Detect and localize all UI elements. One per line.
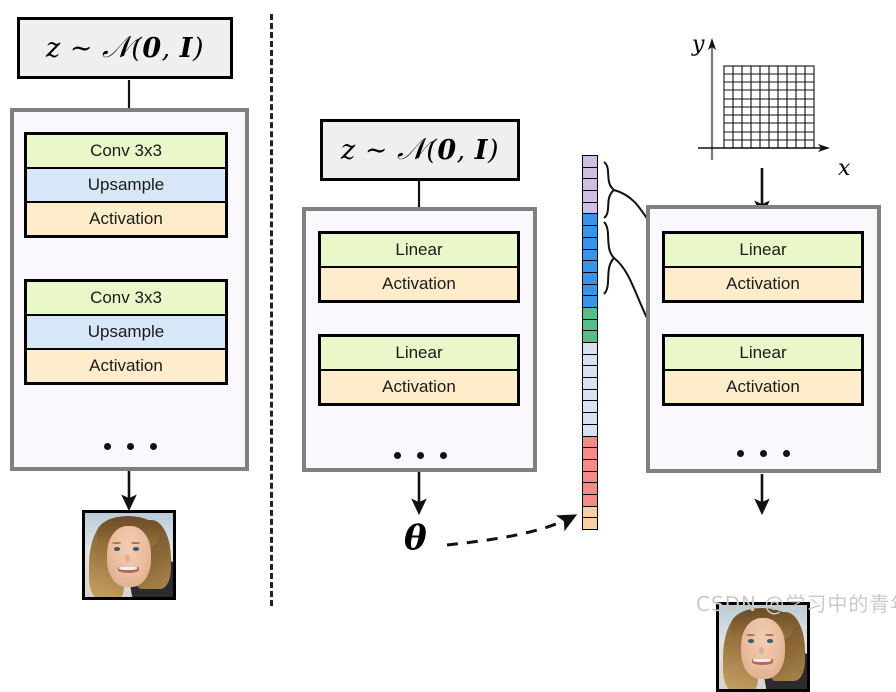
parameter-vector-cell	[583, 413, 597, 425]
grid-y-axis-label: y	[692, 32, 704, 57]
parameter-vector-cell	[583, 331, 597, 343]
middle-block-2-row-activation: Activation	[321, 371, 517, 403]
middle-block-1-row-linear: Linear	[321, 234, 517, 268]
parameter-vector-cell	[583, 425, 597, 437]
left-block-1-row-upsample: Upsample	[27, 169, 225, 203]
parameter-vector-cell	[583, 308, 597, 320]
parameter-vector-cell	[583, 507, 597, 519]
left-block-2-row-conv: Conv 3x3	[27, 282, 225, 316]
right-block-1-row-linear: Linear	[665, 234, 861, 268]
parameter-vector-cell	[583, 191, 597, 203]
panel-divider	[270, 14, 273, 606]
middle-block-2-row-linear: Linear	[321, 337, 517, 371]
parameter-vector-cell	[583, 214, 597, 226]
right-ellipsis	[737, 450, 790, 457]
parameter-vector-cell	[583, 273, 597, 285]
parameter-vector-cell	[583, 156, 597, 168]
parameter-vector-cell	[583, 495, 597, 507]
parameter-vector-cell	[583, 378, 597, 390]
middle-latent-box: z ∼ 𝒩(0, I)	[320, 119, 520, 181]
left-latent-formula: z ∼ 𝒩(0, I)	[46, 33, 204, 63]
parameter-vector-cell	[583, 366, 597, 378]
left-block-2-row-upsample: Upsample	[27, 316, 225, 350]
parameter-vector-cell	[583, 261, 597, 273]
middle-block-1-row-activation: Activation	[321, 268, 517, 300]
middle-block-2: Linear Activation	[318, 334, 520, 406]
parameter-vector-cell	[583, 203, 597, 215]
parameter-vector-cell	[583, 518, 597, 529]
middle-ellipsis	[394, 452, 447, 459]
left-block-2: Conv 3x3 Upsample Activation	[24, 279, 228, 385]
parameter-vector-cell	[583, 460, 597, 472]
parameter-vector-strip	[582, 155, 598, 530]
parameter-vector-cell	[583, 238, 597, 250]
left-ellipsis	[104, 443, 157, 450]
left-block-2-row-activation: Activation	[27, 350, 225, 382]
parameter-vector-cell	[583, 483, 597, 495]
right-block-1: Linear Activation	[662, 231, 864, 303]
parameter-vector-cell	[583, 472, 597, 484]
theta-parameters-label: θ	[404, 518, 427, 558]
diagram-stage: z ∼ 𝒩(0, I) Conv 3x3 Upsample Activation…	[0, 0, 896, 621]
middle-latent-formula: z ∼ 𝒩(0, I)	[341, 135, 499, 165]
csdn-watermark: CSDN @学习中的青年	[696, 588, 896, 617]
parameter-vector-cell	[583, 390, 597, 402]
right-block-2-row-activation: Activation	[665, 371, 861, 403]
parameter-vector-cell	[583, 168, 597, 180]
parameter-vector-cell	[583, 285, 597, 297]
left-block-1-row-conv: Conv 3x3	[27, 135, 225, 169]
parameter-vector-cell	[583, 320, 597, 332]
parameter-vector-cell	[583, 226, 597, 238]
middle-block-1: Linear Activation	[318, 231, 520, 303]
left-block-1: Conv 3x3 Upsample Activation	[24, 132, 228, 238]
parameter-vector-cell	[583, 296, 597, 308]
parameter-vector-cell	[583, 437, 597, 449]
right-block-2-row-linear: Linear	[665, 337, 861, 371]
grid-x-axis-label: x	[838, 156, 850, 181]
right-block-1-row-activation: Activation	[665, 268, 861, 300]
left-output-face	[82, 510, 176, 600]
parameter-vector-cell	[583, 401, 597, 413]
left-latent-box: z ∼ 𝒩(0, I)	[17, 17, 233, 79]
left-block-1-row-activation: Activation	[27, 203, 225, 235]
parameter-vector-cell	[583, 355, 597, 367]
parameter-vector-cell	[583, 179, 597, 191]
parameter-vector-cell	[583, 448, 597, 460]
parameter-vector-cell	[583, 343, 597, 355]
right-block-2: Linear Activation	[662, 334, 864, 406]
parameter-vector-cell	[583, 250, 597, 262]
